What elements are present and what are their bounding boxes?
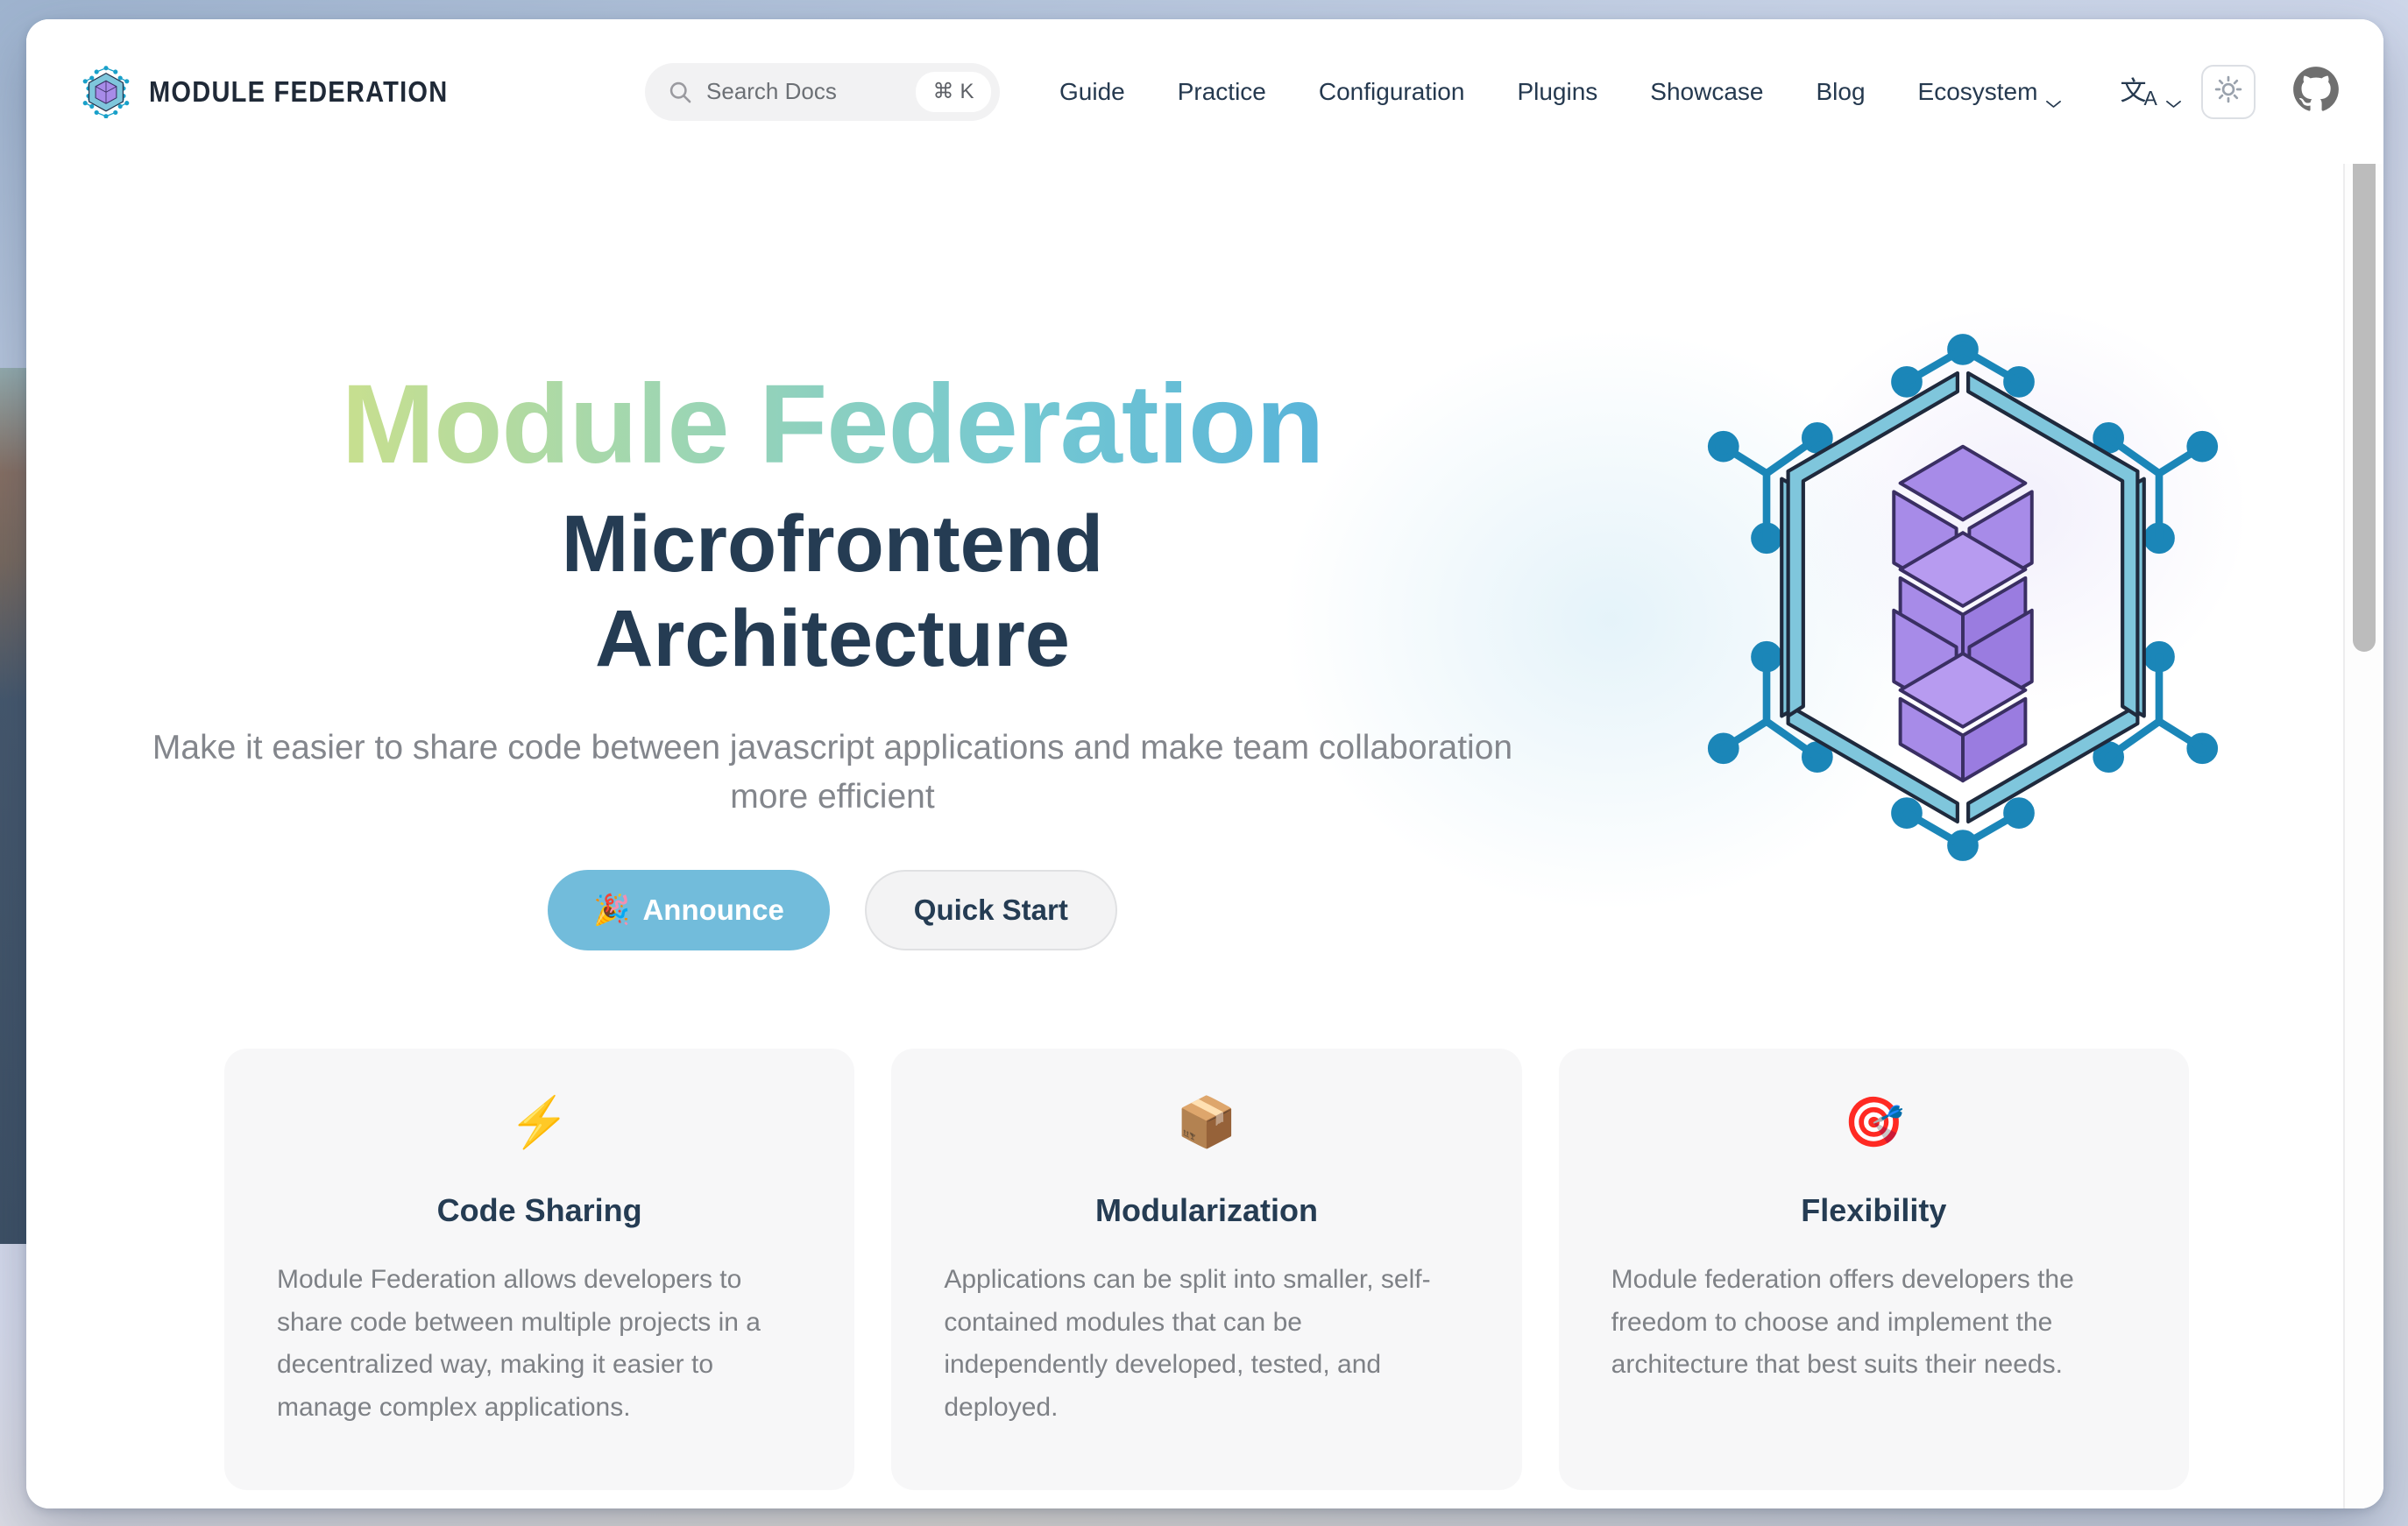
- language-switcher[interactable]: 文A: [2088, 79, 2200, 105]
- feature-body: Module federation offers developers the …: [1611, 1259, 2136, 1387]
- party-popper-icon: 🎉: [593, 895, 630, 925]
- browser-window: MODULE FEDERATION Search Docs ⌘ K: [26, 19, 2383, 1508]
- chevron-down-icon: [2165, 87, 2182, 96]
- hero-cta-group: 🎉 Announce Quick Start: [26, 870, 1639, 950]
- package-box-icon: 📦: [944, 1098, 1469, 1159]
- nav-label: Ecosystem: [1918, 78, 2038, 106]
- feature-card-code-sharing: ⚡ Code Sharing Module Federation allows …: [224, 1049, 854, 1490]
- search-shortcut-badge: ⌘ K: [916, 72, 991, 112]
- search-icon: [668, 80, 692, 104]
- vertical-scrollbar[interactable]: [2343, 19, 2383, 1508]
- nav-label: Plugins: [1517, 78, 1597, 106]
- chevron-down-icon: [2045, 87, 2062, 96]
- nav-label: Showcase: [1650, 78, 1763, 106]
- feature-title: Modularization: [944, 1192, 1469, 1229]
- quick-start-button[interactable]: Quick Start: [865, 870, 1117, 950]
- hero-section: Module Federation Microfrontend Architec…: [26, 164, 2383, 1049]
- shortcut-key: K: [960, 80, 974, 104]
- module-federation-cube-icon: [82, 66, 130, 118]
- quick-start-button-label: Quick Start: [914, 894, 1068, 927]
- hero-description: Make it easier to share code between jav…: [123, 724, 1542, 823]
- features-section: ⚡ Code Sharing Module Federation allows …: [26, 1049, 2383, 1490]
- logo-home-link[interactable]: MODULE FEDERATION: [82, 66, 489, 118]
- feature-title: Flexibility: [1611, 1192, 2136, 1229]
- translate-icon: 文A: [2120, 79, 2157, 105]
- search-placeholder-text: Search Docs: [706, 78, 902, 105]
- nav-item-showcase[interactable]: Showcase: [1624, 78, 1789, 106]
- nav-item-practice[interactable]: Practice: [1151, 78, 1293, 106]
- nav-label: Practice: [1178, 78, 1266, 106]
- hero-gradient-title: Module Federation: [26, 365, 1639, 484]
- nav-label: Configuration: [1319, 78, 1465, 106]
- feature-title: Code Sharing: [277, 1192, 802, 1229]
- hero-illustration: [1682, 317, 2243, 878]
- search-input[interactable]: Search Docs ⌘ K: [645, 63, 1000, 121]
- desktop-backdrop: MODULE FEDERATION Search Docs ⌘ K: [0, 0, 2408, 1526]
- target-dart-icon: 🎯: [1611, 1098, 2136, 1159]
- hero-subtitle-line2: Architecture: [595, 594, 1070, 683]
- shortcut-modifier: ⌘: [933, 79, 954, 104]
- nav-item-plugins[interactable]: Plugins: [1491, 78, 1624, 106]
- site-header: MODULE FEDERATION Search Docs ⌘ K: [26, 19, 2383, 164]
- feature-body: Applications can be split into smaller, …: [944, 1259, 1469, 1429]
- translate-glyph: 文: [2120, 79, 2146, 105]
- page-viewport: MODULE FEDERATION Search Docs ⌘ K: [26, 19, 2383, 1508]
- sun-icon: [2213, 74, 2243, 109]
- feature-card-modularization: 📦 Modularization Applications can be spl…: [891, 1049, 1521, 1490]
- primary-navigation: Guide Practice Configuration Plugins Sho…: [1033, 78, 2201, 106]
- hero-copy: Module Federation Microfrontend Architec…: [26, 365, 1639, 950]
- translate-sub-glyph: A: [2143, 88, 2157, 109]
- github-link[interactable]: [2292, 66, 2340, 117]
- lightning-bolt-icon: ⚡: [277, 1098, 802, 1159]
- header-icon-buttons: [2201, 65, 2340, 119]
- feature-card-flexibility: 🎯 Flexibility Module federation offers d…: [1559, 1049, 2189, 1490]
- nav-item-ecosystem[interactable]: Ecosystem: [1892, 78, 2089, 106]
- feature-body: Module Federation allows developers to s…: [277, 1259, 802, 1429]
- announce-button-label: Announce: [642, 894, 783, 927]
- nav-item-guide[interactable]: Guide: [1033, 78, 1151, 106]
- theme-toggle-button[interactable]: [2201, 65, 2256, 119]
- nav-item-configuration[interactable]: Configuration: [1293, 78, 1491, 106]
- nav-item-blog[interactable]: Blog: [1789, 78, 1891, 106]
- nav-label: Blog: [1816, 78, 1865, 106]
- brand-name: MODULE FEDERATION: [149, 75, 448, 109]
- hero-subtitle: Microfrontend Architecture: [26, 497, 1639, 687]
- announce-button[interactable]: 🎉 Announce: [548, 870, 830, 950]
- nav-label: Guide: [1059, 78, 1125, 106]
- github-icon: [2292, 66, 2340, 117]
- hero-subtitle-line1: Microfrontend: [562, 499, 1103, 589]
